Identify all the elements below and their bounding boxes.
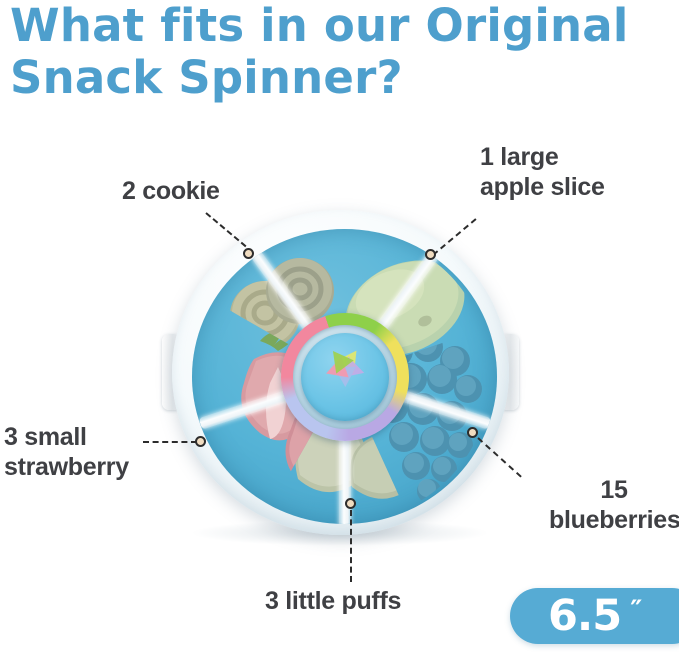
leader-line-strawberry: [143, 441, 197, 443]
leader-dot-strawberry: [195, 436, 206, 447]
spinner-dial-knob[interactable]: [301, 333, 389, 421]
leader-dot-cookie: [243, 248, 254, 259]
leader-dot-blueberries: [467, 427, 478, 438]
callout-label-cookie: 2 cookie: [122, 176, 220, 206]
page-headline: What fits in our Original Snack Spinner?: [10, 0, 670, 104]
container-rim: [172, 210, 509, 535]
size-badge-value: 6.5: [548, 595, 621, 638]
callout-label-puffs: 3 little puffs: [265, 586, 401, 616]
leader-line-puffs: [350, 510, 352, 582]
size-badge-unit: ″: [630, 597, 642, 624]
container-bowl: [192, 229, 497, 524]
leader-dot-puffs: [345, 498, 356, 509]
callout-label-blueberries: 15 blueberries: [549, 475, 679, 535]
size-badge: 6.5 ″: [510, 588, 679, 644]
leader-dot-apple: [425, 249, 436, 260]
callout-label-apple-slice: 1 large apple slice: [480, 142, 605, 202]
callout-label-strawberry: 3 small strawberry: [4, 422, 129, 482]
snack-spinner-product: [168, 206, 513, 539]
